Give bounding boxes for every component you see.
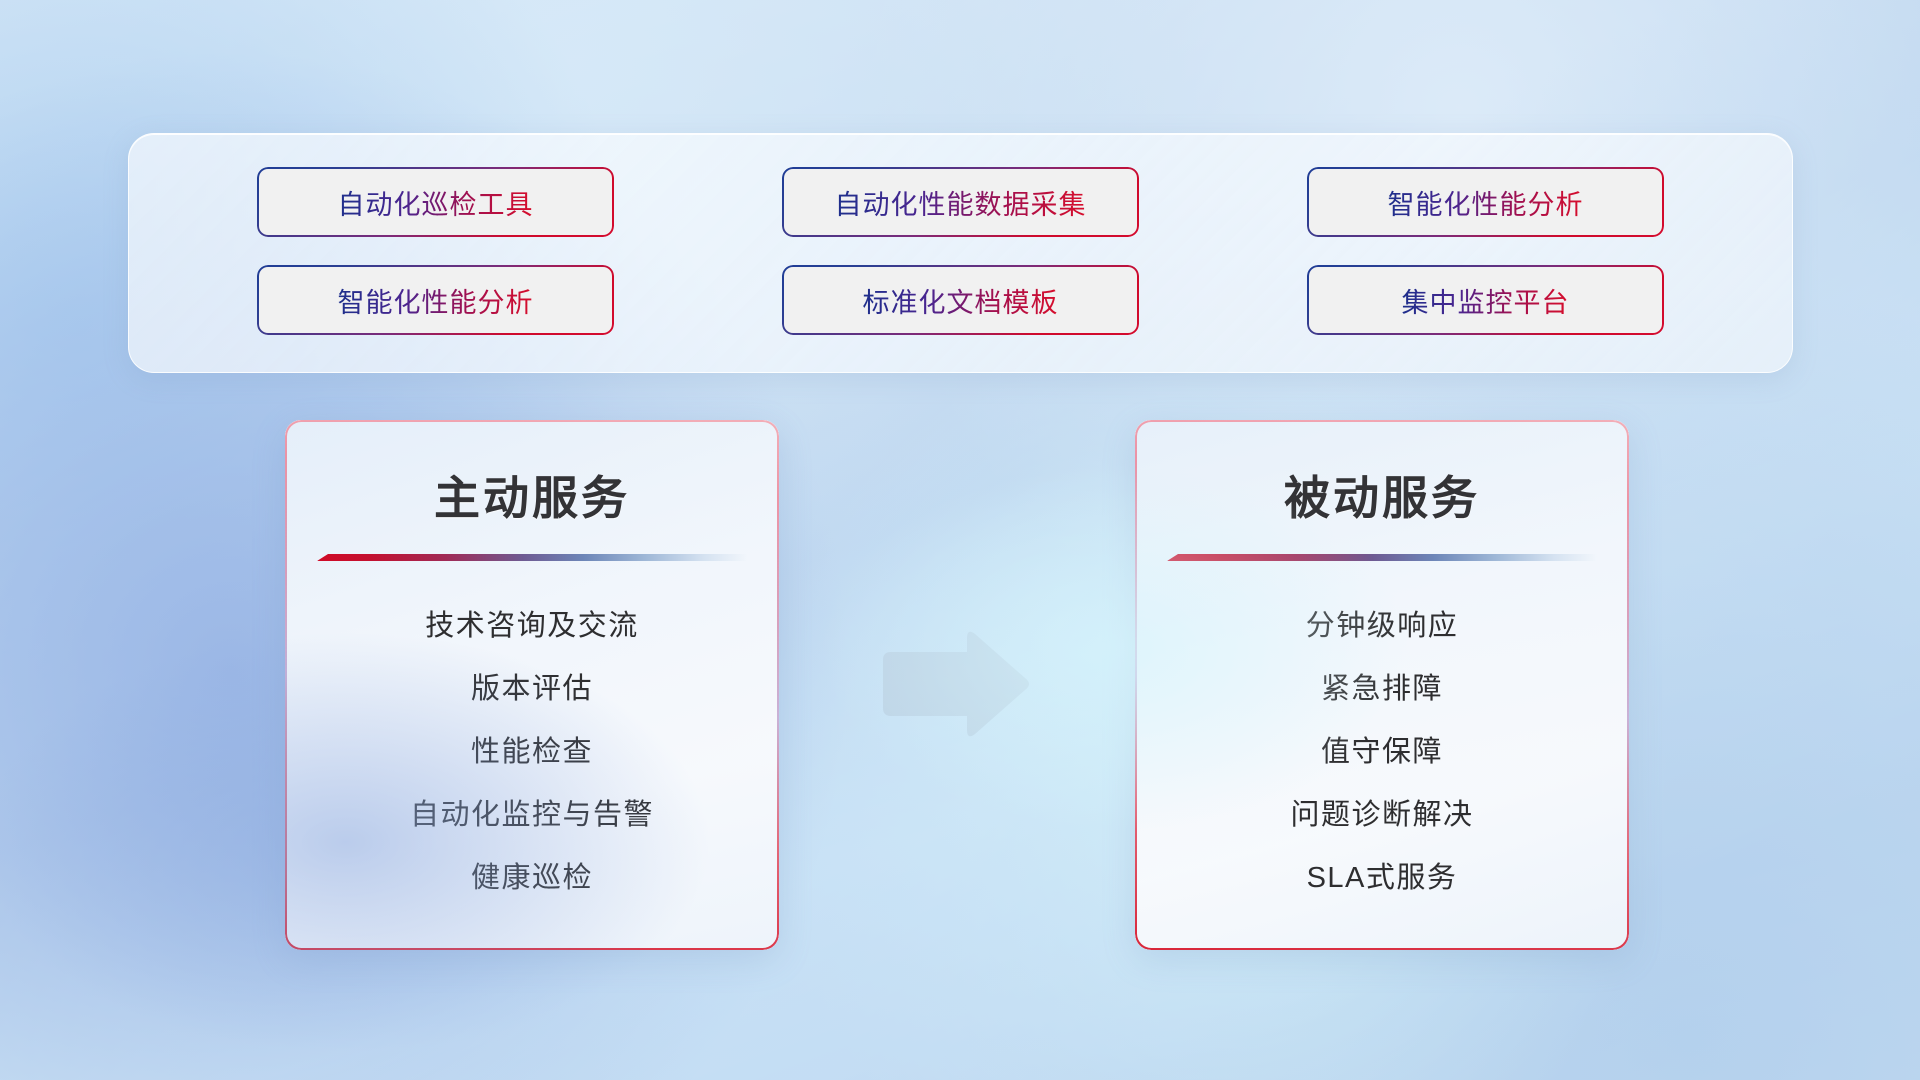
capability-pill-label: 标准化文档模板	[863, 281, 1059, 320]
card-title-rule	[1167, 554, 1597, 561]
service-item: 技术咨询及交流	[285, 595, 779, 658]
service-item-list: 分钟级响应 紧急排障 值守保障 问题诊断解决 SLA式服务	[1135, 561, 1629, 910]
service-item: 性能检查	[285, 721, 779, 784]
service-item: 版本评估	[285, 658, 779, 721]
service-card-passive: 被动服务 分钟级响应 紧急排障 值守保障 问题诊断解决 SLA式服务	[1135, 420, 1629, 950]
card-title: 被动服务	[1135, 420, 1629, 528]
capability-pill[interactable]: 自动化巡检工具	[257, 167, 614, 237]
capability-pill[interactable]: 集中监控平台	[1307, 265, 1664, 335]
service-item: 问题诊断解决	[1135, 784, 1629, 847]
capability-pill-label: 自动化性能数据采集	[835, 183, 1087, 222]
capability-panel: 自动化巡检工具 自动化性能数据采集 智能化性能分析 智能化性能分析 标准化文档模…	[128, 133, 1793, 373]
service-item-list: 技术咨询及交流 版本评估 性能检查 自动化监控与告警 健康巡检	[285, 561, 779, 910]
service-item: SLA式服务	[1135, 847, 1629, 910]
capability-pill[interactable]: 自动化性能数据采集	[782, 167, 1139, 237]
capability-pill[interactable]: 标准化文档模板	[782, 265, 1139, 335]
capability-pill-label: 自动化巡检工具	[338, 183, 534, 222]
capability-pill[interactable]: 智能化性能分析	[1307, 167, 1664, 237]
service-item: 健康巡检	[285, 847, 779, 910]
service-item: 值守保障	[1135, 721, 1629, 784]
card-title-rule	[317, 554, 747, 561]
capability-pill[interactable]: 智能化性能分析	[257, 265, 614, 335]
capability-pill-label: 智能化性能分析	[1388, 183, 1584, 222]
service-card-active: 主动服务 技术咨询及交流 版本评估 性能检查 自动化监控与告警 健康巡检	[285, 420, 779, 950]
capability-pill-label: 集中监控平台	[1402, 281, 1570, 320]
slide-canvas: 自动化巡检工具 自动化性能数据采集 智能化性能分析 智能化性能分析 标准化文档模…	[0, 0, 1920, 1080]
service-item: 自动化监控与告警	[285, 784, 779, 847]
arrow-right-icon	[875, 624, 1035, 744]
capability-pill-label: 智能化性能分析	[338, 281, 534, 320]
service-item: 紧急排障	[1135, 658, 1629, 721]
card-title: 主动服务	[285, 420, 779, 528]
service-item: 分钟级响应	[1135, 595, 1629, 658]
